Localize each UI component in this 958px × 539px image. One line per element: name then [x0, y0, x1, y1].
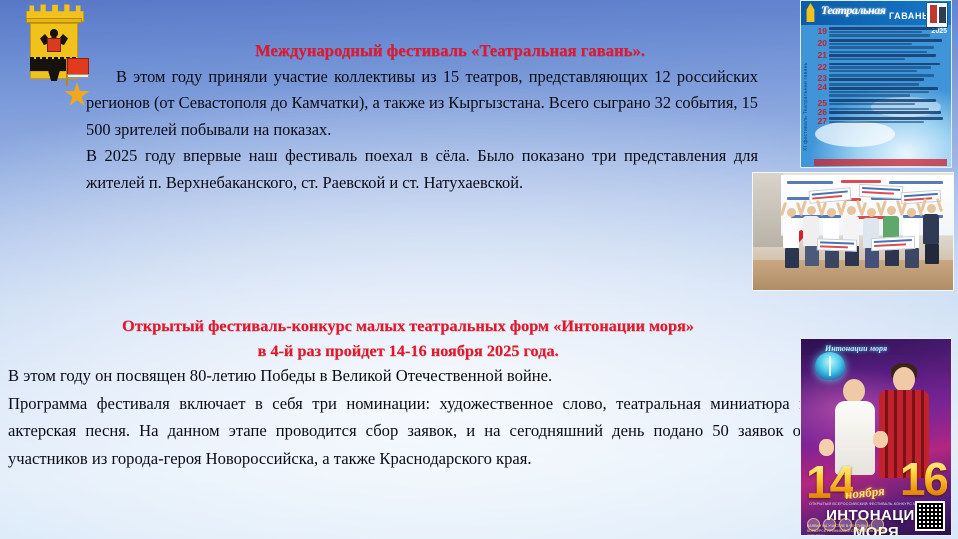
section2-paragraph-2: Программа фестиваля включает в себя три …: [8, 390, 808, 473]
schedule-entry-lines: [829, 99, 948, 106]
poster-harbour-label: ГАВАНЬ: [889, 11, 929, 21]
section2-title-line2: в 4-й раз пройдет 14-16 ноября 2025 года…: [8, 338, 808, 363]
poster-partner-logos: [807, 518, 885, 531]
slide-canvas: Международный фестиваль «Театральная гав…: [0, 0, 958, 539]
schedule-day: 27: [814, 117, 829, 125]
schedule-row: 19: [814, 27, 948, 38]
schedule-row: 20: [814, 39, 948, 50]
section2-title: Открытый фестиваль-конкурс малых театрал…: [8, 313, 808, 363]
shell-logo-icon: [815, 352, 845, 380]
poster-logo: Интонации моря: [809, 344, 853, 384]
poster-logo-text: Интонации моря: [825, 344, 887, 353]
schedule-entry-lines: [829, 117, 948, 124]
partner-logo-icon: [839, 518, 852, 531]
photo-wall: [753, 173, 783, 247]
schedule-row: 25: [814, 99, 948, 107]
intonacii-morya-poster-image: Интонации моря 14 16 ноября ОТКРЫТЫЙ ВСЕ…: [800, 338, 952, 536]
section1-body: В этом году приняли участие коллективы и…: [86, 64, 758, 196]
schedule-row: 23: [814, 74, 948, 82]
schedule-entry-lines: [829, 74, 948, 81]
schedule-entry-lines: [829, 39, 948, 50]
schedule-poster-image: Театральная ГАВАНЬ 2025 XI фестиваль Теа…: [800, 0, 952, 168]
schedule-day: 24: [814, 83, 829, 91]
poster-side-text: XI фестиваль Театральная гавань: [803, 41, 812, 151]
schedule-row: 27: [814, 117, 948, 125]
qr-code-icon[interactable]: [915, 501, 945, 531]
schedule-row: 22: [814, 63, 948, 74]
schedule-row: 24: [814, 83, 948, 97]
shield-center-emblem: [47, 38, 61, 52]
partner-logo-icon: [807, 518, 820, 531]
schedule-entry-lines: [829, 27, 948, 38]
partner-logo-icon: [823, 518, 836, 531]
schedule-day: 21: [814, 51, 829, 59]
schedule-day: 22: [814, 63, 829, 71]
held-sign: [871, 236, 916, 251]
section1-paragraph-1: В этом году приняли участие коллективы и…: [86, 64, 758, 143]
partner-logo-icon: [871, 518, 884, 531]
novorossiysk-coat-of-arms-icon: [12, 2, 96, 110]
section2-title-line1: Открытый фестиваль-конкурс малых театрал…: [8, 313, 808, 338]
section1-paragraph-2: В 2025 году впервые наш фестиваль поехал…: [86, 143, 758, 196]
schedule-day: 20: [814, 39, 829, 47]
held-sign: [859, 184, 904, 199]
schedule-entry-lines: [829, 51, 948, 62]
schedule-entry-lines: [829, 83, 948, 97]
schedule-day: 26: [814, 108, 829, 116]
held-sign: [817, 238, 857, 251]
hand-shape: [819, 439, 834, 456]
poster-month: ноября: [844, 483, 885, 503]
hand-shape: [873, 431, 888, 448]
schedule-row: 21: [814, 51, 948, 62]
partner-logo-icon: [855, 518, 868, 531]
schedule-day: 23: [814, 74, 829, 82]
schedule-day: 19: [814, 27, 829, 35]
schedule-day: 25: [814, 99, 829, 107]
schedule-entry-lines: [829, 108, 948, 115]
poster-badge-icon: [926, 2, 948, 28]
poster-script-title: Театральная: [821, 3, 885, 18]
schedule-entry-lines: [829, 63, 948, 74]
section2-body: В этом году он посвящен 80-летию Победы …: [8, 362, 808, 472]
poster-day-to: 16: [900, 456, 947, 502]
kids-group-photo: [752, 172, 954, 291]
poster-schedule-rows: 19 20 21 22 23 24 25 26 27: [814, 27, 948, 157]
poster-footer-bar: [814, 159, 947, 166]
section2-paragraph-1: В этом году он посвящен 80-летию Победы …: [8, 362, 808, 390]
section1-title: Международный фестиваль «Театральная гав…: [120, 42, 780, 61]
schedule-row: 26: [814, 108, 948, 116]
